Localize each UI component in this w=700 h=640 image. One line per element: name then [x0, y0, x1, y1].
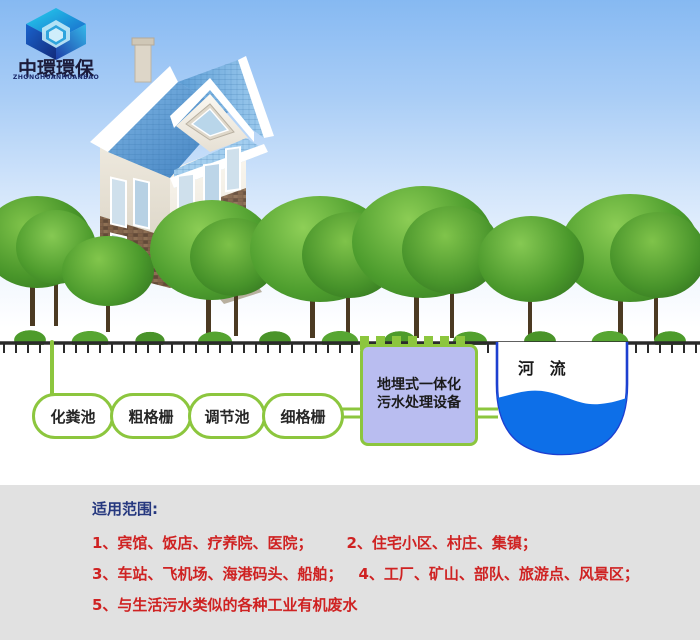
scope-line-3-left: 5、与生活污水类似的各种工业有机废水	[92, 596, 357, 614]
river-label: 河 流	[518, 355, 571, 379]
flow-stage-2-label: 粗格栅	[128, 406, 173, 427]
flow-stage-3-label: 调节池	[204, 406, 249, 427]
flow-stage-3[interactable]: 调节池	[188, 393, 266, 439]
scope-line-2: 3、车站、飞机场、海港码头、船舶；4、工厂、矿山、部队、旅游点、风景区；	[92, 563, 639, 584]
flow-stage-1-label: 化粪池	[50, 406, 95, 427]
equipment-label-line2: 污水处理设备	[377, 395, 461, 413]
scope-line-2-right: 4、工厂、矿山、部队、旅游点、风景区；	[358, 565, 638, 583]
panel-title: 适用范围:	[92, 498, 158, 519]
scope-line-1-left: 1、宾馆、饭店、疗养院、医院；	[92, 534, 312, 552]
flow-stage-4-label: 细格栅	[280, 406, 325, 427]
poster-canvas: 中環環保 ZHONGHUANHUANBAO	[0, 0, 700, 640]
flow-stage-2[interactable]: 粗格栅	[110, 393, 192, 439]
flow-stage-4[interactable]: 细格栅	[262, 393, 344, 439]
scope-line-1-right: 2、住宅小区、村庄、集镇；	[346, 534, 536, 552]
equipment-label-line1: 地埋式一体化	[377, 377, 461, 395]
flow-stage-1[interactable]: 化粪池	[32, 393, 114, 439]
integrated-equipment-box[interactable]: 地埋式一体化 污水处理设备	[360, 344, 478, 446]
application-scope-panel: 适用范围: 1、宾馆、饭店、疗养院、医院；2、住宅小区、村庄、集镇； 3、车站、…	[0, 485, 700, 640]
scope-line-1: 1、宾馆、饭店、疗养院、医院；2、住宅小区、村庄、集镇；	[92, 532, 537, 553]
scope-line-3: 5、与生活污水类似的各种工业有机废水	[92, 594, 357, 615]
scope-line-2-left: 3、车站、飞机场、海港码头、船舶；	[92, 565, 342, 583]
